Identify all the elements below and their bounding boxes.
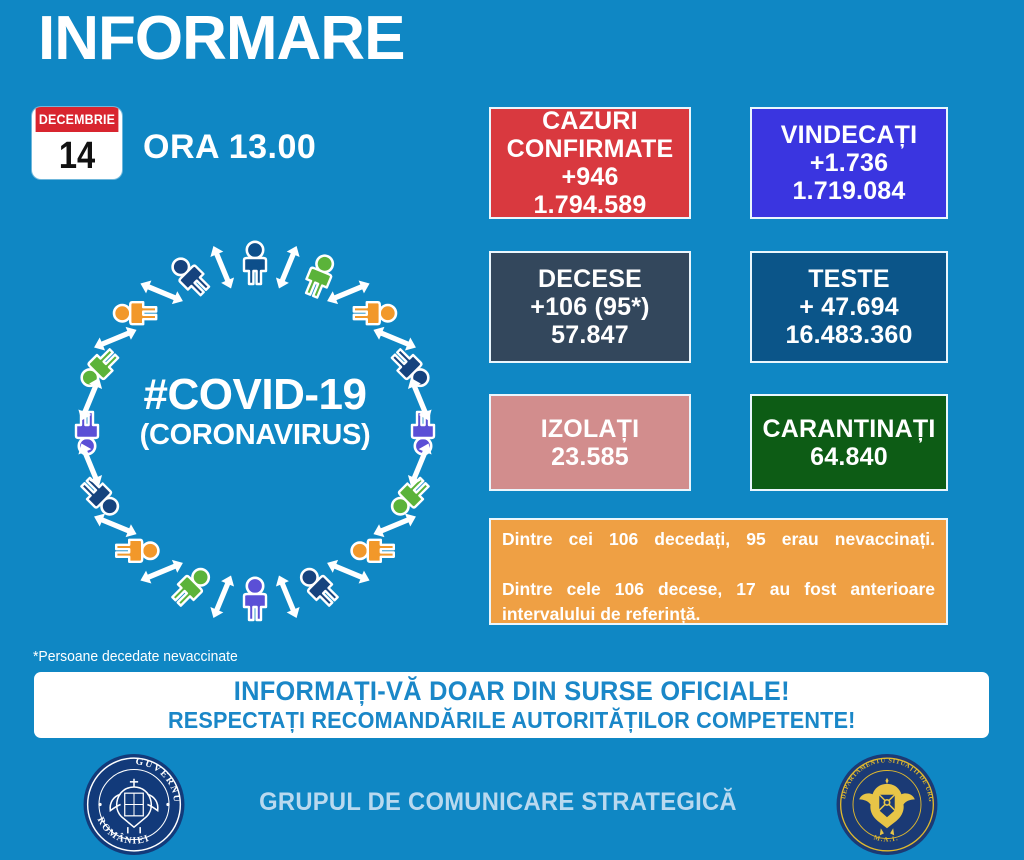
stat-box-isolated: IZOLAȚI 23.585 — [489, 394, 691, 491]
footnote-text: *Persoane decedate nevaccinate — [33, 648, 238, 665]
vaccination-note-box: Dintre cei 106 decedați, 95 erau nevacci… — [489, 518, 948, 625]
hour-label: ORA 13.00 — [143, 128, 316, 167]
official-sources-banner: INFORMAȚI-VĂ DOAR DIN SURSE OFICIALE! RE… — [34, 672, 989, 738]
stat-title-cases-line2: CONFIRMATE — [507, 135, 674, 163]
footer-organization-name: GRUPUL DE COMUNICARE STRATEGICĂ — [232, 788, 764, 817]
note-line-2: Dintre cele 106 decese, 17 au fost anter… — [502, 577, 935, 627]
stat-box-quarantine: CARANTINAȚI 64.840 — [750, 394, 948, 491]
stat-total-deaths: 57.847 — [551, 321, 629, 349]
banner-line-1: INFORMAȚI-VĂ DOAR DIN SURSE OFICIALE! — [233, 676, 789, 707]
stat-box-tests: TESTE + 47.694 16.483.360 — [750, 251, 948, 363]
stat-total-tests: 16.483.360 — [785, 321, 912, 349]
stat-total-cases: 1.794.589 — [533, 191, 646, 219]
stat-total-isolated: 23.585 — [551, 443, 629, 471]
stat-delta-deaths: +106 (95*) — [530, 293, 649, 321]
circle-figures-svg — [30, 222, 480, 642]
stat-box-recovered: VINDECAȚI +1.736 1.719.084 — [750, 107, 948, 219]
stat-delta-tests: + 47.694 — [799, 293, 899, 321]
dsu-mai-emblem: DEPARTAMENTUL PENTRU SITUAȚII DE URGENȚĂ… — [833, 753, 941, 856]
infographic-canvas: INFORMARE DECEMBRIE 14 ORA 13.00 — [0, 0, 1024, 860]
stat-delta-cases: +946 — [561, 163, 618, 191]
note-line-1: Dintre cei 106 decedați, 95 erau nevacci… — [502, 527, 935, 577]
page-title: INFORMARE — [38, 8, 404, 70]
stat-title-deaths: DECESE — [538, 265, 642, 293]
people-circle-covid-graphic: #COVID-19 (CORONAVIRUS) — [30, 222, 480, 642]
stat-title-quarantine: CARANTINAȚI — [762, 415, 935, 443]
stat-total-quarantine: 64.840 — [810, 443, 888, 471]
stat-total-recovered: 1.719.084 — [792, 177, 905, 205]
stat-title-cases-line1: CAZURI — [542, 107, 638, 135]
stat-title-recovered: VINDECAȚI — [781, 121, 918, 149]
calendar-day-label: 14 — [38, 132, 115, 179]
guvernul-romaniei-emblem: GUVERNUL ROMÂNIEI — [80, 753, 188, 856]
banner-line-2: RESPECTAȚI RECOMANDĂRILE AUTORITĂȚILOR C… — [168, 707, 856, 735]
stat-title-tests: TESTE — [808, 265, 890, 293]
calendar-icon: DECEMBRIE 14 — [32, 107, 122, 179]
calendar-month-label: DECEMBRIE — [36, 107, 119, 132]
stat-delta-recovered: +1.736 — [810, 149, 888, 177]
stat-box-cases: CAZURI CONFIRMATE +946 1.794.589 — [489, 107, 691, 219]
stat-box-deaths: DECESE +106 (95*) 57.847 — [489, 251, 691, 363]
stat-title-isolated: IZOLAȚI — [541, 415, 640, 443]
